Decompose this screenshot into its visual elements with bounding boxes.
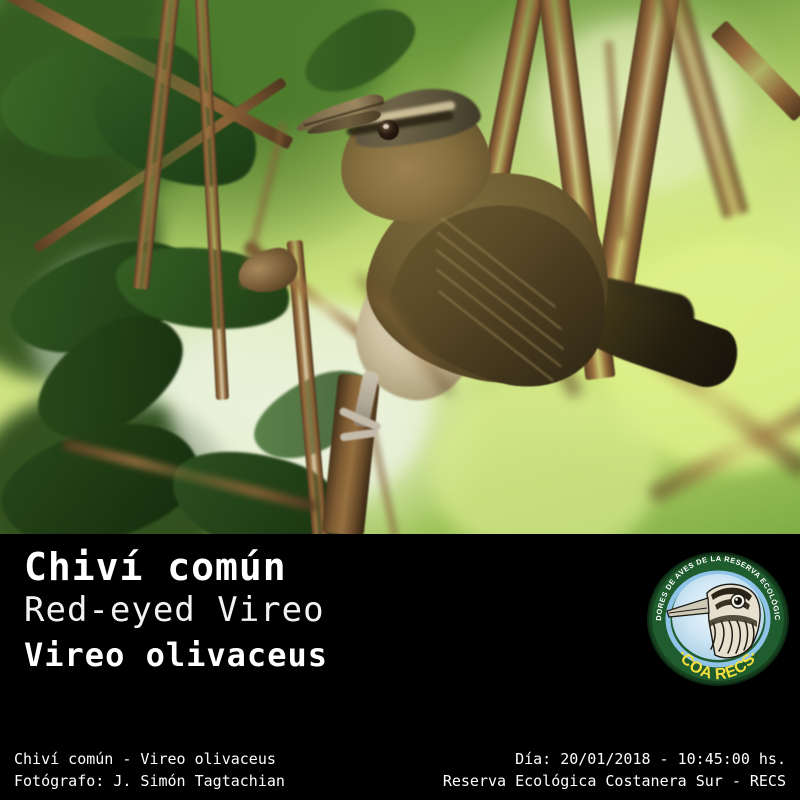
footer-left-line1: Chiví común - Vireo olivaceus bbox=[14, 748, 285, 770]
english-name-subtitle: Red-eyed Vireo bbox=[24, 590, 325, 630]
bird-subject bbox=[300, 75, 720, 455]
scientific-name: Vireo olivaceus bbox=[24, 636, 328, 674]
bird-eye-highlight bbox=[383, 124, 389, 129]
bird-photo-card: Chiví común Red-eyed Vireo Vireo olivace… bbox=[0, 0, 800, 800]
footer-right-line2: Reserva Ecológica Costanera Sur - RECS bbox=[443, 770, 786, 792]
footer-right: Día: 20/01/2018 - 10:45:00 hs. Reserva E… bbox=[443, 748, 786, 792]
footer-left-line2: Fotógrafo: J. Simón Tagtachian bbox=[14, 770, 285, 792]
coa-recs-logo: CLUB DE OBSERVADORES DE AVES DE LA RESER… bbox=[645, 551, 791, 687]
bird-photograph bbox=[0, 0, 800, 534]
bird-eye bbox=[378, 120, 399, 140]
footer-left: Chiví común - Vireo olivaceus Fotógrafo:… bbox=[14, 748, 285, 792]
common-name-title: Chiví común bbox=[24, 545, 287, 589]
footer-right-line1: Día: 20/01/2018 - 10:45:00 hs. bbox=[443, 748, 786, 770]
